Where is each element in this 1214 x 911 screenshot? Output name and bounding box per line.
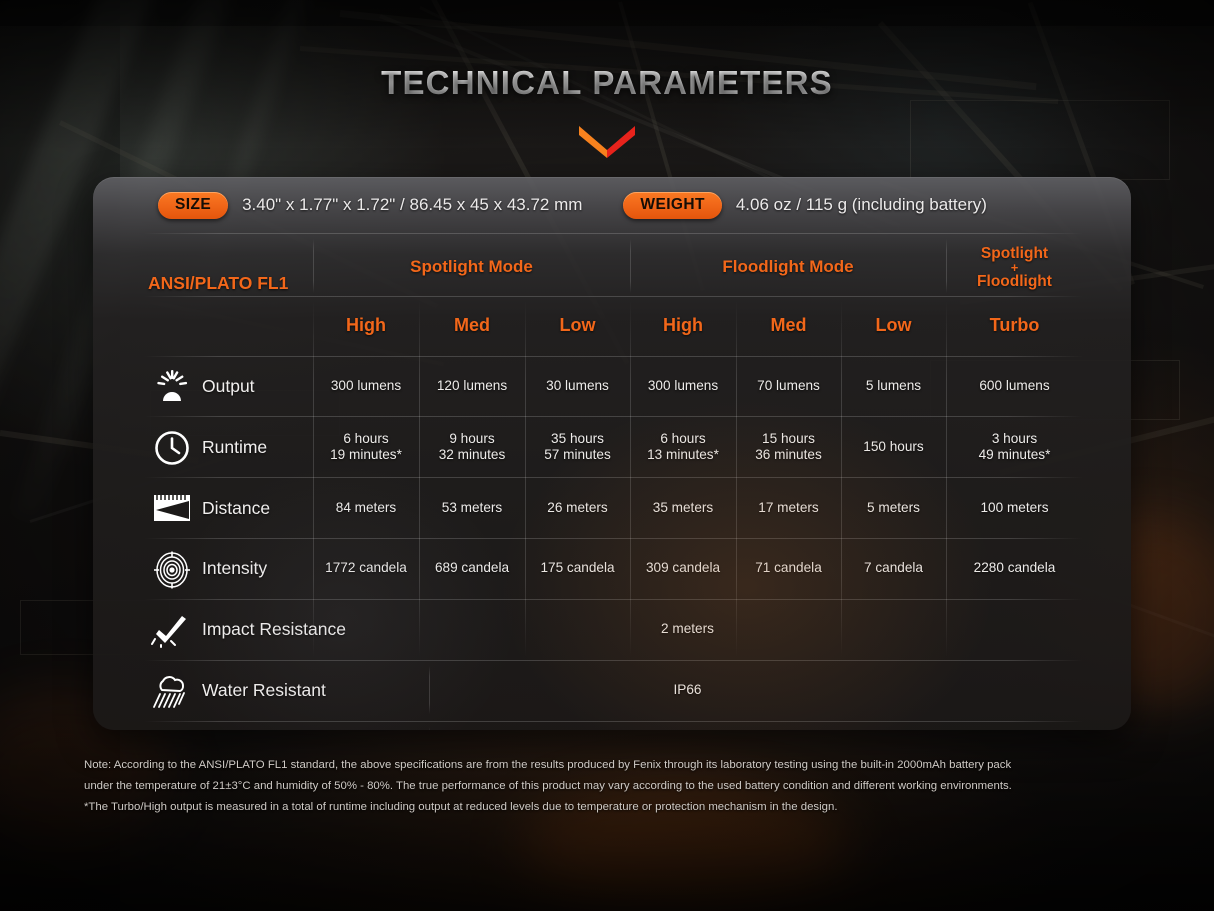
cell-runtime-5: 150 hours (841, 417, 946, 477)
cell-runtime-3: 6 hours 13 minutes* (630, 417, 736, 477)
cell-distance-1: 53 meters (419, 478, 525, 538)
cell-runtime-0: 6 hours 19 minutes* (313, 417, 419, 477)
cell-water-resistant-value: IP66 (429, 660, 946, 721)
cell-distance-4: 17 meters (736, 478, 841, 538)
cell-output-5: 5 lumens (841, 357, 946, 416)
cell-intensity-4: 71 candela (736, 538, 841, 599)
column-header-0: High (313, 297, 419, 355)
column-header-3: High (630, 297, 736, 355)
cell-intensity-0: 1772 candela (313, 538, 419, 599)
cell-runtime-4: 15 hours 36 minutes (736, 417, 841, 477)
chevron-down-icon (579, 126, 635, 158)
footnote-line-2: under the temperature of 21±3°C and humi… (84, 776, 1154, 797)
cell-output-1: 120 lumens (419, 357, 525, 416)
cell-runtime-2: 35 hours 57 minutes (525, 417, 630, 477)
weight-value: 4.06 oz / 115 g (including battery) (736, 195, 987, 215)
cell-distance-2: 26 meters (525, 478, 630, 538)
column-header-1: Med (419, 297, 525, 355)
cell-intensity-5: 7 candela (841, 538, 946, 599)
cell-runtime-1: 9 hours 32 minutes (419, 417, 525, 477)
row-label-output: Output (202, 357, 312, 416)
weight-badge: WEIGHT (623, 192, 721, 219)
clock-icon (150, 429, 194, 467)
cell-impact-resistance-value: 2 meters (429, 599, 946, 660)
group-header-line2: + (1011, 262, 1019, 273)
cell-distance-0: 84 meters (313, 478, 419, 538)
cell-distance-6: 100 meters (946, 478, 1083, 538)
page-title: TECHNICAL PARAMETERS (0, 64, 1214, 102)
row-label-distance: Distance (202, 478, 312, 538)
cell-distance-5: 5 meters (841, 478, 946, 538)
group-header-floodlight: Floodlight Mode (630, 239, 946, 296)
group-header-line3: Floodlight (977, 273, 1052, 290)
cell-output-3: 300 lumens (630, 357, 736, 416)
table-rule (144, 721, 1083, 722)
cell-intensity-3: 309 candela (630, 538, 736, 599)
footnote-line-3: *The Turbo/High output is measured in a … (84, 797, 1154, 818)
column-header-4: Med (736, 297, 841, 355)
table-rule (144, 233, 1083, 234)
spec-panel: SIZE 3.40" x 1.77" x 1.72" / 86.45 x 45 … (93, 177, 1131, 730)
cell-runtime-6: 3 hours 49 minutes* (946, 417, 1083, 477)
column-header-5: Low (841, 297, 946, 355)
sunburst-icon (150, 369, 194, 405)
cell-intensity-2: 175 candela (525, 538, 630, 599)
row-label-runtime: Runtime (202, 417, 312, 477)
cell-output-6: 600 lumens (946, 357, 1083, 416)
ansi-plato-label: ANSI/PLATO FL1 (144, 269, 313, 297)
column-header-2: Low (525, 297, 630, 355)
impact-arrow-icon (150, 613, 194, 649)
table-divider (429, 727, 430, 730)
footnote-line-1: Note: According to the ANSI/PLATO FL1 st… (84, 755, 1154, 776)
row-label-intensity: Intensity (202, 538, 312, 599)
group-header-spotlight: Spotlight Mode (313, 239, 630, 296)
target-rings-icon (150, 551, 194, 589)
cell-output-2: 30 lumens (525, 357, 630, 416)
cell-output-0: 300 lumens (313, 357, 419, 416)
cell-distance-3: 35 meters (630, 478, 736, 538)
beam-distance-icon (150, 491, 194, 525)
footnote: Note: According to the ANSI/PLATO FL1 st… (84, 755, 1154, 818)
size-badge: SIZE (158, 192, 228, 219)
size-weight-bar: SIZE 3.40" x 1.77" x 1.72" / 86.45 x 45 … (93, 177, 1131, 233)
row-label-water-resistant: Water Resistant (202, 660, 432, 721)
row-label-impact-resistance: Impact Resistance (202, 599, 432, 660)
cell-output-4: 70 lumens (736, 357, 841, 416)
cell-intensity-6: 2280 candela (946, 538, 1083, 599)
group-header-spotlight-floodlight: Spotlight + Floodlight (946, 239, 1083, 296)
column-header-6: Turbo (946, 297, 1083, 355)
rain-cloud-icon (150, 673, 194, 711)
cell-intensity-1: 689 candela (419, 538, 525, 599)
size-value: 3.40" x 1.77" x 1.72" / 86.45 x 45 x 43.… (242, 195, 582, 215)
